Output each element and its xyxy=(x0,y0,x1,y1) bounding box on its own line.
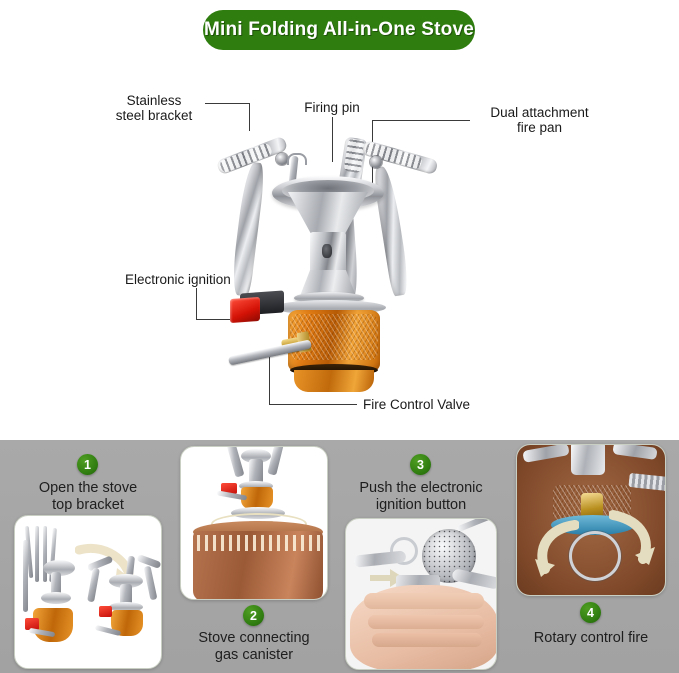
folded-stove-art xyxy=(21,526,79,656)
callout-line-1: Stainless xyxy=(108,93,200,108)
canister-stitch-pattern xyxy=(195,535,321,551)
callout-line-2: fire pan xyxy=(472,120,607,135)
callout-firing-pin: Firing pin xyxy=(288,100,376,115)
callout-stainless-steel-bracket: Stainless steel bracket xyxy=(108,93,200,123)
thumb xyxy=(364,593,484,609)
callout-line-2: steel bracket xyxy=(108,108,200,123)
stove-illustration xyxy=(232,120,462,420)
step-caption-4: Rotary control fire xyxy=(512,630,670,647)
finger-1 xyxy=(368,615,484,629)
step-photo-1 xyxy=(14,515,162,669)
step-caption-line-2: ignition button xyxy=(341,497,501,514)
step-badge-1: 1 xyxy=(77,454,98,475)
callout-dual-attachment-fire-pan: Dual attachment fire pan xyxy=(472,105,607,135)
burner-stem-hole xyxy=(322,244,332,258)
step-panel-1: 1 Open the stove top bracket xyxy=(10,440,166,673)
product-title-banner: Mini Folding All-in-One Stove xyxy=(203,10,475,50)
rotate-left-arrow-icon xyxy=(533,519,579,577)
stove-arm-upper xyxy=(456,518,495,532)
step-caption-line-2: top bracket xyxy=(10,497,166,514)
leader-line-bracket-h xyxy=(205,103,250,104)
step-caption-line-1: Stove connecting xyxy=(176,630,332,647)
step-caption-line-1: Rotary control fire xyxy=(512,630,670,647)
hero-product-diagram: Stainless steel bracket Firing pin Dual … xyxy=(0,55,679,430)
step-badge-3: 3 xyxy=(410,454,431,475)
usage-steps-section: 1 Open the stove top bracket xyxy=(0,440,679,673)
step-photo-4 xyxy=(516,444,666,596)
stove-left-arm xyxy=(230,161,266,296)
callout-line-1: Dual attachment xyxy=(472,105,607,120)
stove-bracket-left xyxy=(354,550,407,567)
leader-line-ignition-v xyxy=(196,288,197,320)
step-panel-4: 4 Rotary control fire xyxy=(512,440,670,673)
step-photo-2 xyxy=(180,446,328,600)
finger-2 xyxy=(372,633,482,647)
electronic-ignition-button[interactable] xyxy=(230,297,260,323)
step-badge-2: 2 xyxy=(243,605,264,626)
step-caption-1: Open the stove top bracket xyxy=(10,480,166,514)
ignition-button-red[interactable] xyxy=(346,519,360,532)
unfolded-stove-art xyxy=(87,556,162,656)
rotate-right-arrow-icon xyxy=(609,509,657,565)
step-panel-2: 2 Stove connecting gas canister xyxy=(176,440,332,673)
step-panel-3: 3 Push the electronic ignition button xyxy=(341,440,501,673)
page-title: Mini Folding All-in-One Stove xyxy=(204,19,474,41)
step-photo-3 xyxy=(345,518,497,670)
step-caption-3: Push the electronic ignition button xyxy=(341,480,501,514)
step-caption-2: Stove connecting gas canister xyxy=(176,630,332,664)
step-caption-line-1: Push the electronic xyxy=(341,480,501,497)
step-badge-4: 4 xyxy=(580,602,601,623)
callout-line-1: Firing pin xyxy=(288,100,376,115)
step-caption-line-1: Open the stove xyxy=(10,480,166,497)
stove-right-pivot xyxy=(370,156,382,168)
gas-valve-foot xyxy=(294,370,374,392)
stove-on-canister-art xyxy=(215,447,299,523)
step-caption-line-2: gas canister xyxy=(176,647,332,664)
